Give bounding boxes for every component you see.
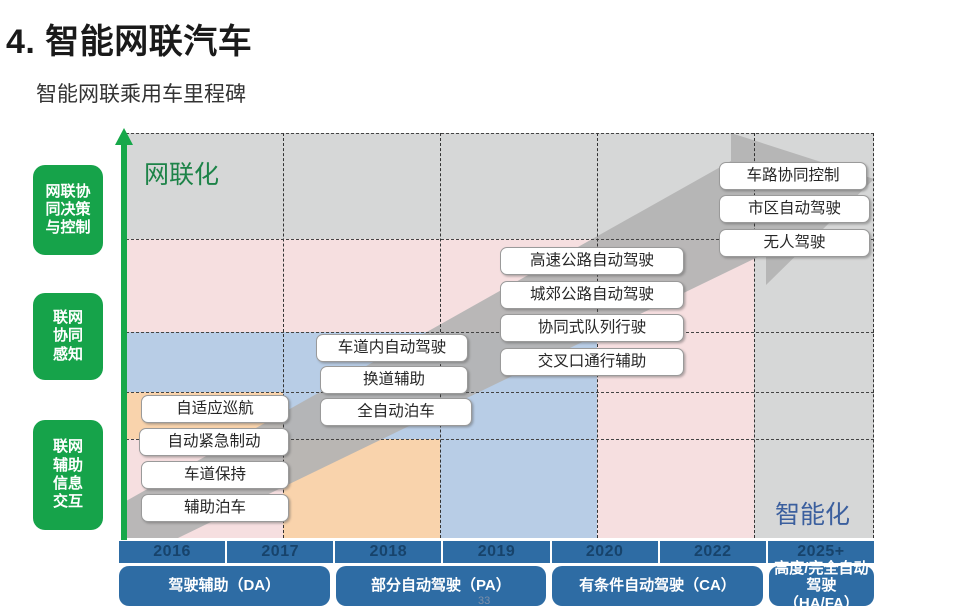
category-block-cooperative-sensing[interactable]: 联网 协同 感知 (33, 293, 103, 380)
milestone-pill-in-lane-autonomous-driving[interactable]: 车道内自动驾驶 (316, 334, 468, 362)
milestone-pill-highway-autonomous-driving[interactable]: 高速公路自动驾驶 (500, 247, 684, 275)
gridline-right-edge (873, 133, 874, 538)
level-partial-automation[interactable]: 部分自动驾驶（PA） (336, 566, 547, 606)
level-driving-assistance[interactable]: 驾驶辅助（DA） (119, 566, 330, 606)
milestone-pill-vehicle-road-cooperative-control[interactable]: 车路协同控制 (719, 162, 867, 190)
category-line: 网联协 (45, 183, 90, 201)
connectivity-axis-arrow (113, 128, 135, 540)
level-conditional-automation[interactable]: 有条件自动驾驶（CA） (552, 566, 763, 606)
axis-label-intelligence: 智能化 (775, 495, 850, 531)
year-cell-2022[interactable]: 2022 (660, 541, 766, 563)
gridline-top (126, 133, 874, 134)
category-block-decision-control[interactable]: 网联协 同决策 与控制 (33, 165, 103, 255)
category-line: 与控制 (45, 219, 90, 237)
year-cell-2017[interactable]: 2017 (227, 541, 333, 563)
year-cell-2020[interactable]: 2020 (552, 541, 658, 563)
milestone-pill-adaptive-cruise-control[interactable]: 自适应巡航 (141, 395, 289, 423)
milestone-pill-parking-assist[interactable]: 辅助泊车 (141, 494, 289, 522)
level-high-full-automation[interactable]: 高度/完全自动驾驶（HA/FA） (769, 566, 874, 606)
category-line: 感知 (53, 346, 83, 364)
milestone-pill-cooperative-platooning[interactable]: 协同式队列行驶 (500, 314, 684, 342)
page-title: 4. 智能网联汽车 (6, 14, 252, 63)
milestone-pill-driverless[interactable]: 无人驾驶 (719, 229, 870, 257)
category-line: 交互 (53, 493, 83, 511)
milestone-pill-suburban-road-autonomous-driving[interactable]: 城郊公路自动驾驶 (500, 281, 684, 309)
axis-label-connectivity: 网联化 (144, 155, 219, 191)
year-axis: 2016 2017 2018 2019 2020 2022 2025+ (119, 541, 874, 563)
category-line: 协同 (53, 327, 83, 345)
milestone-pill-fully-automated-parking[interactable]: 全自动泊车 (320, 398, 472, 426)
gridline-tier-3 (126, 392, 874, 393)
year-cell-2016[interactable]: 2016 (119, 541, 225, 563)
milestone-pill-urban-autonomous-driving[interactable]: 市区自动驾驶 (719, 195, 870, 223)
slide-root: 4. 智能网联汽车 智能网联乘用车里程碑 (0, 0, 970, 611)
year-cell-2019[interactable]: 2019 (443, 541, 549, 563)
milestone-pill-lane-change-assist[interactable]: 换道辅助 (320, 366, 468, 394)
gridline-year-2022 (754, 133, 755, 538)
category-line: 信息 (53, 475, 83, 493)
year-cell-2018[interactable]: 2018 (335, 541, 441, 563)
milestone-pill-lane-keeping[interactable]: 车道保持 (141, 461, 289, 489)
page-number: 33 (478, 595, 490, 607)
category-line: 同决策 (45, 201, 90, 219)
category-block-assisted-info-exchange[interactable]: 联网 辅助 信息 交互 (33, 420, 103, 530)
category-line: 联网 (53, 438, 83, 456)
milestone-pill-intersection-assist[interactable]: 交叉口通行辅助 (500, 348, 684, 376)
milestone-pill-automatic-emergency-braking[interactable]: 自动紧急制动 (139, 428, 289, 456)
category-line: 联网 (53, 309, 83, 327)
page-subtitle: 智能网联乘用车里程碑 (36, 78, 246, 108)
category-line: 辅助 (53, 457, 83, 475)
automation-level-bar: 驾驶辅助（DA） 部分自动驾驶（PA） 有条件自动驾驶（CA） 高度/完全自动驾… (119, 566, 874, 606)
